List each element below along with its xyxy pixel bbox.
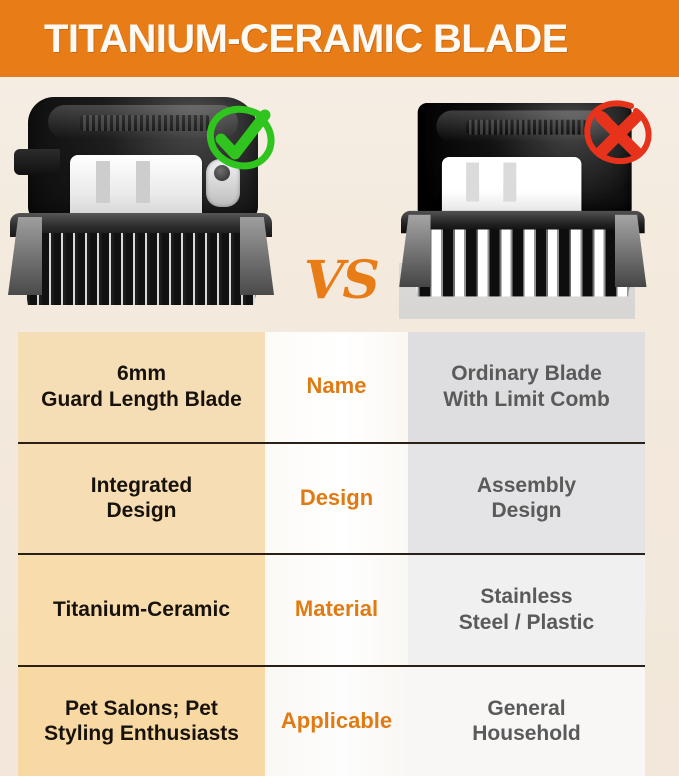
table-row: Integrated Design Design Assembly Design (18, 444, 645, 556)
header-banner: TITANIUM-CERAMIC BLADE (0, 0, 679, 77)
vs-label: VS (293, 255, 389, 307)
blade-side-tab (14, 149, 60, 175)
cell-theirs: Ordinary Blade With Limit Comb (408, 332, 645, 442)
cell-theirs: General Household (408, 667, 645, 776)
cell-theirs: Stainless Steel / Plastic (408, 555, 645, 665)
cell-ours: Titanium-Ceramic (18, 555, 265, 665)
comparison-table: 6mm Guard Length Blade Name Ordinary Bla… (18, 332, 645, 776)
blade-white-guide (442, 157, 582, 218)
hero-left-panel (0, 77, 340, 332)
blade-white-guide (70, 155, 202, 221)
blade-comb-teeth (401, 211, 645, 297)
cell-attribute: Material (265, 555, 408, 665)
cell-theirs: Assembly Design (408, 444, 645, 554)
hero-comparison-area: Other Brands VS (0, 77, 679, 332)
green-check-circle-icon (203, 103, 277, 177)
red-cross-circle-icon (581, 98, 655, 172)
teeth-rows (408, 229, 637, 296)
teeth-rows (18, 233, 264, 305)
cell-attribute: Design (265, 444, 408, 554)
table-row: Titanium-Ceramic Material Stainless Stee… (18, 555, 645, 667)
blade-comb-teeth (10, 213, 272, 305)
cell-ours: Pet Salons; Pet Styling Enthusiasts (18, 667, 265, 776)
infographic-page: TITANIUM-CERAMIC BLADE (0, 0, 679, 776)
page-title: TITANIUM-CERAMIC BLADE (44, 19, 568, 59)
hero-right-panel: Other Brands (339, 77, 679, 332)
table-row: Pet Salons; Pet Styling Enthusiasts Appl… (18, 667, 645, 776)
table-row: 6mm Guard Length Blade Name Ordinary Bla… (18, 332, 645, 444)
cell-attribute: Applicable (265, 667, 408, 776)
cell-ours: Integrated Design (18, 444, 265, 554)
cell-ours: 6mm Guard Length Blade (18, 332, 265, 442)
cell-attribute: Name (265, 332, 408, 442)
